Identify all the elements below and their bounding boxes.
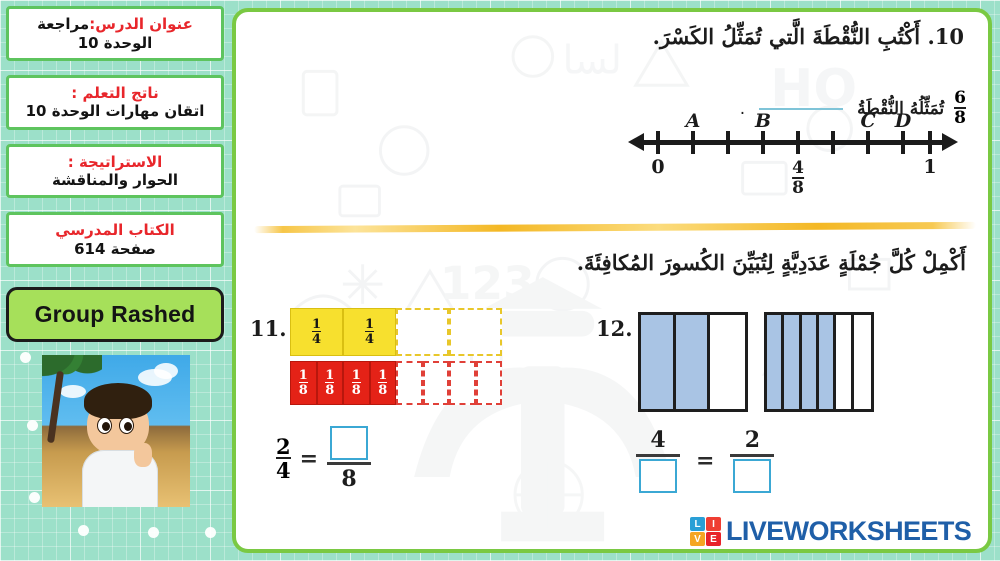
question-12-left-fraction: 4: [636, 428, 680, 493]
fraction-numerator: 1: [378, 369, 387, 382]
number-line-tick: [656, 131, 660, 154]
info-box-strategy: الاستراتيجة : الحوار والمناقشة: [6, 144, 224, 199]
fraction-cell-eighth-empty: [476, 361, 503, 405]
question-12-equation: 4 = 2: [636, 428, 774, 493]
number-line-label-half: 4 8: [792, 156, 804, 198]
fraction-quarter: 1 4: [365, 318, 374, 347]
number-line-axis: [642, 140, 944, 145]
question-10-number: 10.: [927, 24, 964, 49]
section-divider: [254, 222, 976, 233]
fraction-eighth: 1 8: [352, 369, 361, 398]
number-line-tick: [726, 131, 730, 154]
fraction-numerator: 2: [745, 428, 760, 452]
fraction-cell-eighth-empty: [423, 361, 450, 405]
question-11-left-fraction: 2 4: [276, 436, 291, 482]
fraction-eighth: 1 8: [378, 369, 387, 398]
page-background: عنوان الدرس:مراجعة الوحدة 10 ناتج التعلم…: [0, 0, 1000, 561]
fraction-cell-quarter: 1 4: [290, 308, 343, 356]
logo-tile-e: E: [706, 532, 721, 546]
bar-segment-empty: [710, 315, 745, 409]
question-12-right-fraction: 2: [730, 428, 774, 493]
fraction-cell-quarter-empty: [396, 308, 449, 356]
number-line-label-zero: 0: [651, 156, 664, 178]
fraction-denominator: 8: [352, 382, 361, 397]
number-line-fraction-four-eighths: 4 8: [792, 160, 804, 198]
fraction-quarter: 1 4: [312, 318, 321, 347]
question-10-text: 10. أَكْتُبِ النُّقْطَةَ الَّتي تُمَثِّل…: [236, 24, 988, 49]
fraction-cell-quarter: 1 4: [343, 308, 396, 356]
fraction-numerator: 1: [312, 318, 321, 331]
info-box-textbook: الكتاب المدرسي صفحة 614: [6, 212, 224, 267]
liveworksheets-logo-tiles: L I V E: [690, 517, 721, 546]
question-11-number: 11.: [250, 316, 287, 341]
number-line-tick: [831, 131, 835, 154]
fraction-denominator: 8: [378, 382, 387, 397]
number-line-point-label-d: D: [895, 110, 911, 132]
fraction-cell-eighth: 1 8: [370, 361, 397, 405]
fraction-cell-quarter-empty: [449, 308, 502, 356]
fraction-cell-eighth-empty: [449, 361, 476, 405]
info-title-label: ناتج التعلم :: [71, 84, 158, 102]
fraction-eighth: 1 8: [299, 369, 308, 398]
worksheet-card: 123 HO لسا 10.: [232, 8, 992, 553]
fraction-denominator: 4: [312, 331, 321, 346]
equals-sign: =: [300, 446, 318, 472]
number-line-tick: [691, 131, 695, 154]
fraction-numerator: 6: [954, 90, 966, 107]
fraction-numerator: 1: [365, 318, 374, 331]
question-10-prompt: أَكْتُبِ النُّقْطَةَ الَّتي تُمَثِّلُ ال…: [653, 24, 920, 49]
question-12-left-denominator-input[interactable]: [639, 459, 677, 493]
question-12-number: 12.: [596, 316, 633, 341]
number-line-tick: [761, 131, 765, 154]
fraction-cell-eighth: 1 8: [317, 361, 344, 405]
logo-tile-l: L: [690, 517, 705, 531]
number-line-diagram: A B C D 0 4 8 1: [628, 112, 958, 190]
fraction-cell-eighth: 1 8: [343, 361, 370, 405]
info-title-label: عنوان الدرس:: [89, 15, 193, 33]
fraction-bar: [730, 454, 774, 457]
number-line-tick: [901, 131, 905, 154]
info-value-inline: مراجعة: [37, 15, 89, 33]
fraction-denominator: 8: [792, 177, 804, 197]
fraction-cell-eighth: 1 8: [290, 361, 317, 405]
number-line-right-arrow-icon: [942, 133, 958, 151]
bar-segment-empty: [854, 315, 871, 409]
fraction-numerator: 4: [792, 160, 804, 177]
question-12-right-denominator-input[interactable]: [733, 459, 771, 493]
number-line-tick: [928, 131, 932, 154]
fraction-eighth: 1 8: [325, 369, 334, 398]
equals-sign: =: [696, 448, 714, 474]
question-11-equation: 2 4 = 8: [276, 426, 371, 491]
info-value-line2: صفحة 614: [15, 240, 215, 258]
number-line-label-one: 1: [923, 156, 936, 178]
info-box-lesson-title: عنوان الدرس:مراجعة الوحدة 10: [6, 6, 224, 61]
question-12-right-bar: [764, 312, 874, 412]
bar-segment-shaded: [802, 315, 819, 409]
fraction-numerator: 1: [299, 369, 308, 382]
fraction-denominator: 8: [341, 467, 356, 491]
number-line-tick: [866, 131, 870, 154]
liveworksheets-logo-text: LIVEWORKSHEETS: [726, 516, 971, 547]
info-value-line2: اتقان مهارات الوحدة 10: [15, 102, 215, 120]
bar-segment-empty: [836, 315, 853, 409]
bar-segment-shaded: [784, 315, 801, 409]
number-line-tick: [796, 131, 800, 154]
question-10: 10. أَكْتُبِ النُّقْطَةَ الَّتي تُمَثِّل…: [236, 24, 988, 49]
bar-segment-shaded: [676, 315, 711, 409]
number-line-point-label-c: C: [860, 110, 875, 132]
number-line-point-label-a: A: [686, 110, 701, 132]
logo-tile-i: I: [706, 517, 721, 531]
fraction-bar: [327, 462, 371, 465]
instruction-text: أَكْمِلْ كُلَّ جُمْلَةٍ عَدَدِيَّةٍ لِتُ…: [236, 250, 988, 275]
student-avatar-image: [42, 355, 190, 507]
fraction-cell-eighth-empty: [396, 361, 423, 405]
fraction-numerator: 1: [325, 369, 334, 382]
info-value-line2: الحوار والمناقشة: [15, 171, 215, 189]
question-11-right-fraction: 8: [327, 426, 371, 491]
info-value-line2: الوحدة 10: [15, 34, 215, 52]
fraction-numerator: 1: [352, 369, 361, 382]
fraction-bar: [636, 454, 680, 457]
group-name-badge: Group Rashed: [6, 287, 224, 342]
fraction-denominator: 4: [276, 457, 291, 481]
question-12-left-bar: [638, 312, 748, 412]
logo-tile-v: V: [690, 532, 705, 546]
info-title-label: الاستراتيجة :: [68, 153, 163, 171]
bar-segment-shaded: [767, 315, 784, 409]
question-10-answer-input[interactable]: [759, 108, 843, 110]
fraction-denominator: 4: [365, 331, 374, 346]
question-11-eighths-row: 1 8 1 8 1 8: [290, 361, 502, 405]
bar-segment-shaded: [819, 315, 836, 409]
bar-segment-shaded: [641, 315, 676, 409]
question-11-numerator-input[interactable]: [330, 426, 368, 460]
fraction-numerator: 2: [276, 436, 291, 457]
info-title-label: الكتاب المدرسي: [55, 221, 175, 239]
info-box-learning-outcome: ناتج التعلم : اتقان مهارات الوحدة 10: [6, 75, 224, 130]
fraction-denominator: 8: [325, 382, 334, 397]
liveworksheets-logo: L I V E LIVEWORKSHEETS: [690, 516, 971, 547]
fraction-numerator: 4: [650, 428, 665, 452]
question-11-quarters-row: 1 4 1 4: [290, 308, 502, 356]
number-line-point-label-b: B: [755, 110, 771, 132]
fraction-denominator: 8: [299, 382, 308, 397]
